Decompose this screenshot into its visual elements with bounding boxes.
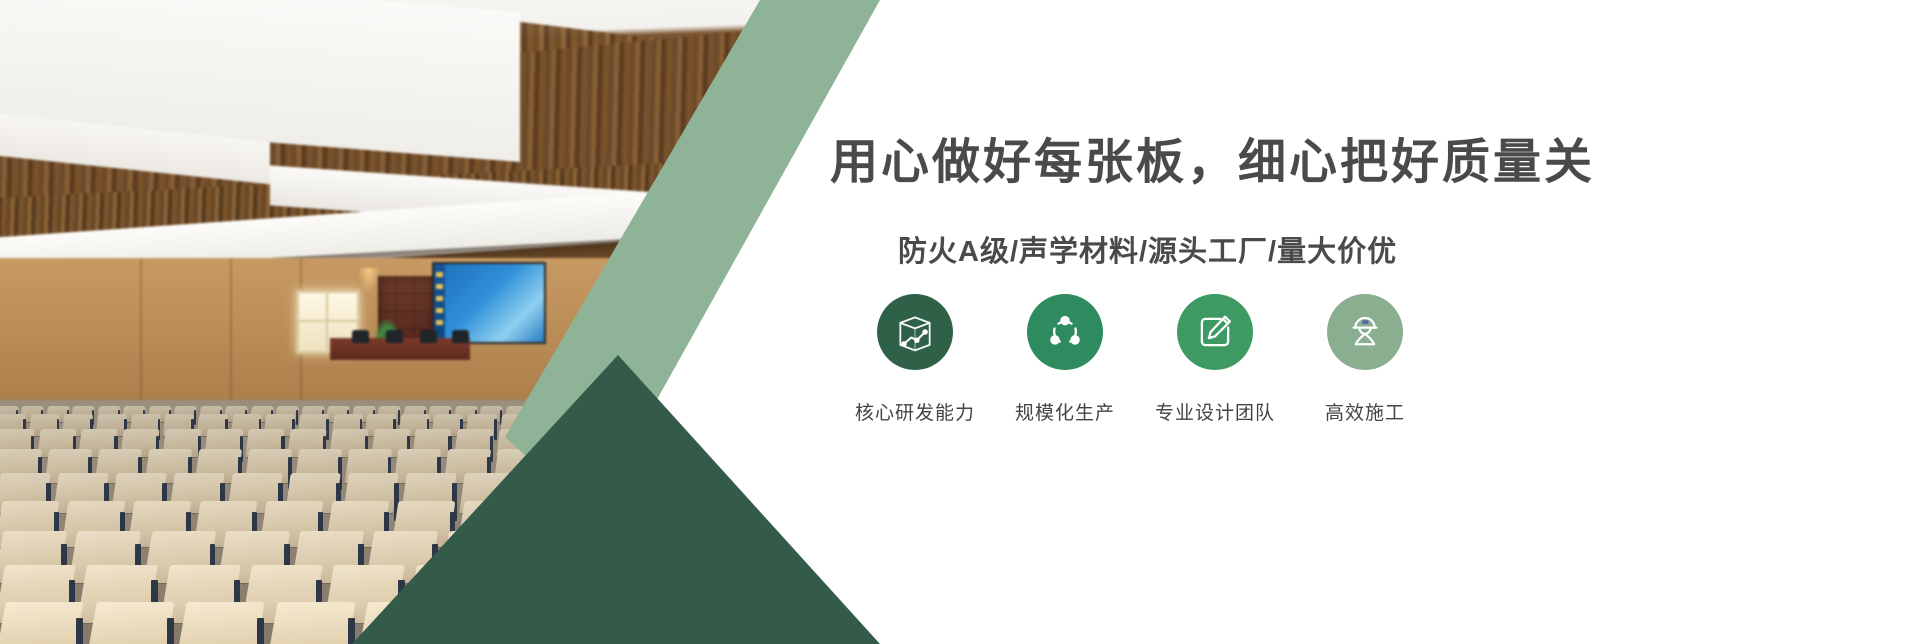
feature-label: 高效施工 [1325, 398, 1405, 425]
page-title: 用心做好每张板，细心把好质量关 [830, 122, 1595, 192]
feature-circle [1027, 294, 1103, 370]
feature-circle [877, 294, 953, 370]
feature-label: 专业设计团队 [1155, 398, 1275, 425]
network-nodes-icon [1044, 311, 1086, 353]
banner-content: 用心做好每张板，细心把好质量关 防火A级/声学材料/源头工厂/量大价优 [0, 0, 1920, 644]
feature-label: 核心研发能力 [855, 398, 975, 425]
subtitle-tagline: 防火A级/声学材料/源头工厂/量大价优 [898, 228, 1397, 270]
feature-item-construction[interactable]: 高效施工 [1290, 294, 1440, 425]
feature-item-production[interactable]: 规模化生产 [990, 294, 1140, 425]
feature-circle [1177, 294, 1253, 370]
hero-banner: 用心做好每张板，细心把好质量关 防火A级/声学材料/源头工厂/量大价优 [0, 0, 1920, 644]
feature-list: 核心研发能力 规模化生产 [840, 294, 1440, 425]
feature-item-design[interactable]: 专业设计团队 [1140, 294, 1290, 425]
feature-circle [1327, 294, 1403, 370]
feature-label: 规模化生产 [1015, 398, 1115, 425]
feature-item-rnd[interactable]: 核心研发能力 [840, 294, 990, 425]
box-chart-icon [893, 310, 937, 354]
worker-helmet-icon [1344, 311, 1386, 353]
edit-pencil-icon [1194, 311, 1236, 353]
